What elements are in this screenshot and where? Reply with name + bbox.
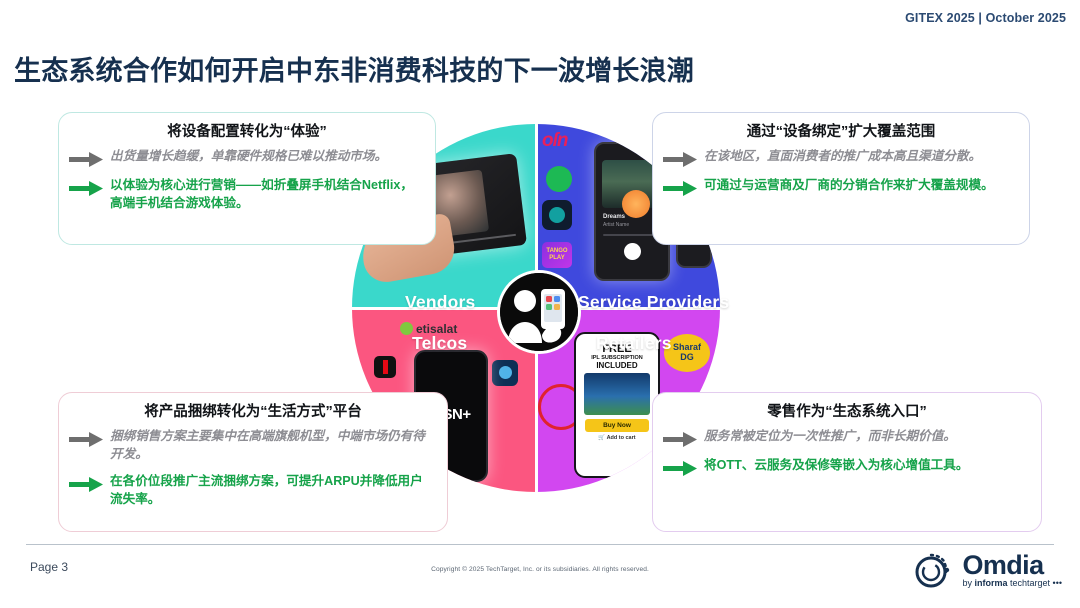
green-arrow-icon — [69, 477, 103, 492]
callout-title: 将设备配置转化为“体验” — [59, 113, 435, 147]
wheel-label-retailers: Retailers — [596, 333, 672, 354]
track-title: Dreams — [603, 214, 625, 220]
callout-problem-text: 在该地区，直面消费者的推广成本高且渠道分散。 — [704, 147, 981, 165]
callout-title: 零售作为“生态系统入口” — [653, 393, 1041, 427]
omdia-wordmark: Omdia — [962, 552, 1062, 578]
omdia-tagline: by informa techtarget ••• — [962, 578, 1062, 589]
wheel-label-vendors: Vendors — [405, 292, 475, 313]
wheel-label-telcos: Telcos — [412, 333, 467, 354]
page-title: 生态系统合作如何开启中东非消费科技的下一波增长浪潮 — [14, 54, 694, 88]
green-arrow-icon — [69, 181, 103, 196]
callout-problem-row: 出货量增长趋缓，单靠硬件规格已难以推动市场。 — [59, 147, 435, 167]
gray-arrow-icon — [663, 432, 697, 447]
callout-card-vendors: 将设备配置转化为“体验” 出货量增长趋缓，单靠硬件规格已难以推动市场。 以体验为… — [58, 112, 436, 245]
callout-solution-row: 以体验为核心进行营销——如折叠屏手机结合Netflix，高端手机结合游戏体验。 — [59, 176, 435, 212]
callout-solution-text: 可通过与运营商及厂商的分销合作来扩大覆盖规模。 — [704, 176, 994, 194]
callout-title: 通过“设备绑定”扩大覆盖范围 — [653, 113, 1029, 147]
omdia-tagline-prefix: by — [962, 578, 974, 588]
tango-play-logo-icon: TANGOPLAY — [542, 242, 572, 268]
omdia-tagline-bold: informa — [975, 578, 1008, 588]
wheel-label-service-providers: Service Providers — [578, 292, 729, 313]
callout-solution-row: 可通过与运营商及厂商的分销合作来扩大覆盖规模。 — [653, 176, 1029, 196]
buy-now-button[interactable]: Buy Now — [585, 419, 649, 432]
add-to-cart-link[interactable]: 🛒 Add to cart — [576, 435, 658, 441]
callout-solution-row: 在各价位段推广主流捆绑方案，可提升ARPU并降低用户流失率。 — [59, 472, 447, 508]
netflix-app-icon — [374, 356, 396, 378]
page-number: Page 3 — [30, 560, 68, 574]
consumer-with-smartphone-icon — [497, 270, 581, 354]
starzplay-app-icon — [492, 360, 518, 386]
green-arrow-icon — [663, 461, 697, 476]
slide-canvas: GITEX 2025 | October 2025 生态系统合作如何开启中东非消… — [0, 0, 1080, 608]
callout-solution-text: 以体验为核心进行营销——如折叠屏手机结合Netflix，高端手机结合游戏体验。 — [110, 176, 423, 212]
gray-arrow-icon — [663, 152, 697, 167]
callout-solution-text: 将OTT、云服务及保修等嵌入为核心增值工具。 — [704, 456, 968, 474]
offer-included: INCLUDED — [576, 361, 658, 370]
callout-problem-text: 服务常被定位为一次性推广，而非长期价值。 — [704, 427, 956, 445]
omdia-logo: Omdia by informa techtarget ••• — [911, 548, 1062, 592]
callout-problem-text: 出货量增长趋缓，单靠硬件规格已难以推动市场。 — [110, 147, 387, 165]
callout-solution-text: 在各价位段推广主流捆绑方案，可提升ARPU并降低用户流失率。 — [110, 472, 435, 508]
omdia-mark-icon — [911, 548, 955, 592]
cricket-image — [584, 373, 650, 415]
callout-problem-row: 在该地区，直面消费者的推广成本高且渠道分散。 — [653, 147, 1029, 167]
callout-card-telcos: 将产品捆绑转化为“生活方式”平台 捆绑销售方案主要集中在高端旗舰机型，中端市场仍… — [58, 392, 448, 532]
callout-problem-row: 捆绑销售方案主要集中在高端旗舰机型，中端市场仍有待开发。 — [59, 427, 447, 463]
callout-problem-row: 服务常被定位为一次性推广，而非长期价值。 — [653, 427, 1041, 447]
callout-title: 将产品捆绑转化为“生活方式”平台 — [59, 393, 447, 427]
event-label: GITEX 2025 | October 2025 — [905, 11, 1066, 25]
gray-arrow-icon — [69, 152, 103, 167]
track-progress — [603, 234, 659, 236]
osn-logo-icon: oſn — [542, 130, 568, 152]
copyright-text: Copyright © 2025 TechTarget, Inc. or its… — [431, 566, 649, 573]
gray-arrow-icon — [69, 432, 103, 447]
callout-solution-row: 将OTT、云服务及保修等嵌入为核心增值工具。 — [653, 456, 1041, 476]
green-arrow-icon — [663, 181, 697, 196]
anghami-logo-icon — [542, 200, 572, 230]
callout-card-retailers: 零售作为“生态系统入口” 服务常被定位为一次性推广，而非长期价值。 将OTT、云… — [652, 392, 1042, 532]
spotify-logo-icon — [546, 166, 572, 192]
play-button-icon — [624, 243, 641, 260]
track-artist: Artist Name — [603, 222, 629, 228]
footer-divider — [26, 544, 1054, 545]
callout-problem-text: 捆绑销售方案主要集中在高端旗舰机型，中端市场仍有待开发。 — [110, 427, 435, 463]
callout-card-service-providers: 通过“设备绑定”扩大覆盖范围 在该地区，直面消费者的推广成本高且渠道分散。 可通… — [652, 112, 1030, 245]
omdia-tagline-suffix: techtarget — [1008, 578, 1051, 588]
